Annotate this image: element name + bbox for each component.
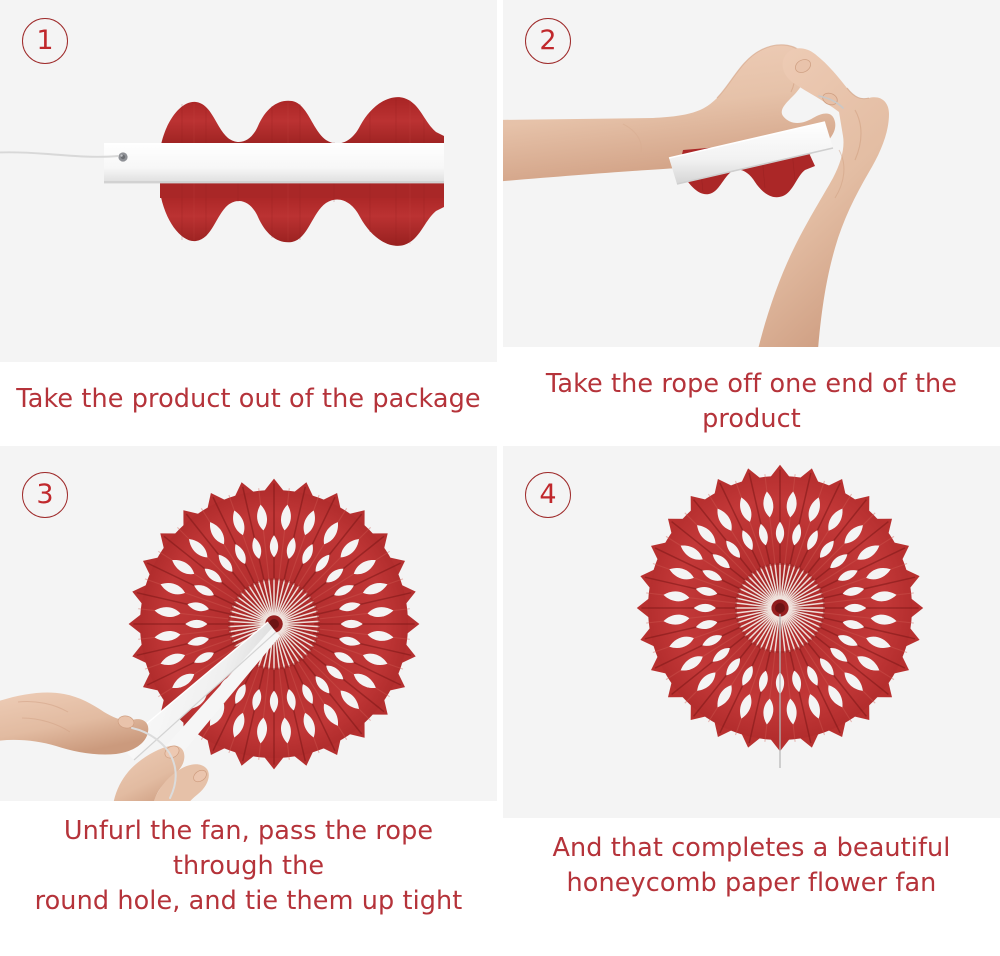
step-panel-2: 2 bbox=[503, 0, 1000, 437]
hands-unfurling-fan-illustration bbox=[0, 446, 497, 801]
step-2-badge: 2 bbox=[525, 18, 571, 64]
step-3-caption-line-2: round hole, and tie them up tight bbox=[14, 884, 484, 919]
steps-grid: 1 bbox=[0, 0, 1000, 956]
step-3-caption: Unfurl the fan, pass the rope through th… bbox=[0, 801, 497, 919]
eyelet-icon bbox=[118, 152, 127, 161]
step-4-badge: 4 bbox=[525, 472, 571, 518]
step-3-caption-line-1: Unfurl the fan, pass the rope through th… bbox=[14, 814, 484, 884]
left-hand bbox=[0, 692, 148, 754]
step-2-photo: 2 bbox=[503, 0, 1000, 347]
white-stick bbox=[104, 143, 444, 183]
rope-string bbox=[0, 152, 118, 157]
step-4-caption-line-2: honeycomb paper flower fan bbox=[553, 866, 951, 901]
step-4-caption: And that completes a beautiful honeycomb… bbox=[503, 818, 1000, 919]
step-panel-1: 1 bbox=[0, 0, 497, 437]
instruction-sheet: 1 bbox=[0, 0, 1000, 956]
step-1-badge: 1 bbox=[22, 18, 68, 64]
step-3-photo: 3 bbox=[0, 446, 497, 801]
step-3-badge: 3 bbox=[22, 472, 68, 518]
step-2-caption-line-1: Take the rope off one end of the product bbox=[517, 367, 987, 437]
step-1-caption: Take the product out of the package bbox=[0, 362, 497, 437]
step-panel-4: 4 bbox=[503, 446, 1000, 919]
step-panel-3: 3 bbox=[0, 446, 497, 919]
hands-removing-rope-illustration bbox=[503, 0, 1000, 347]
step-1-caption-line-1: Take the product out of the package bbox=[16, 382, 480, 417]
step-4-caption-line-1: And that completes a beautiful bbox=[553, 831, 951, 866]
step-2-caption: Take the rope off one end of the product bbox=[503, 347, 1000, 437]
flat-folded-product-illustration bbox=[0, 0, 497, 362]
finished-fan-illustration bbox=[503, 446, 1000, 818]
step-4-photo: 4 bbox=[503, 446, 1000, 818]
step-1-photo: 1 bbox=[0, 0, 497, 362]
